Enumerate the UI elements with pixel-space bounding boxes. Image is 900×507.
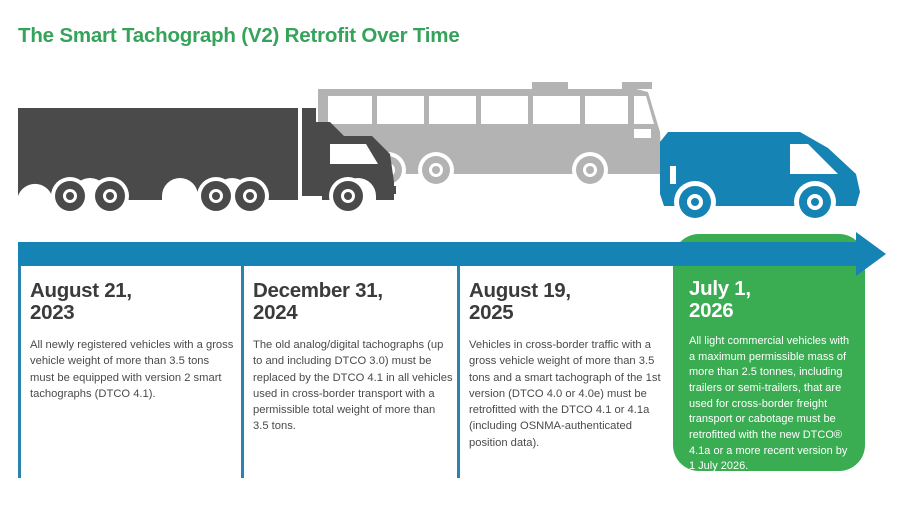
- bus-wheel-rear: [572, 152, 608, 188]
- milestone-date-2: December 31,2024: [253, 280, 453, 324]
- milestone-date-4-line1: July 1,: [689, 277, 751, 300]
- milestone-column-2: December 31,2024 The old analog/digital …: [253, 252, 453, 435]
- bus-wheel-mid: [418, 152, 454, 188]
- milestone-column-1: August 21,2023 All newly registered vehi…: [30, 252, 235, 402]
- page-title: The Smart Tachograph (V2) Retrofit Over …: [18, 24, 460, 48]
- milestone-date-2-line1: December 31,: [253, 279, 383, 302]
- milestone-date-3-line2: 2025: [469, 301, 513, 324]
- trailer-wheel-2: [91, 177, 129, 215]
- van-wheel-front: [794, 181, 836, 223]
- milestone-column-4: July 1,2026 All light commercial vehicle…: [689, 252, 855, 475]
- delivery-van-icon: [660, 132, 860, 223]
- milestone-description-4: All light commercial vehicles with a max…: [689, 334, 855, 474]
- trailer-wheel-3: [197, 177, 235, 215]
- milestone-description-2: The old analog/digital tachographs (up t…: [253, 337, 453, 434]
- tractor-wheel: [329, 177, 367, 215]
- van-wheel-rear: [674, 181, 716, 223]
- milestone-date-3: August 19,2025: [469, 280, 671, 324]
- milestone-columns: August 21,2023 All newly registered vehi…: [0, 252, 900, 492]
- milestone-description-3: Vehicles in cross-border traffic with a …: [469, 337, 671, 451]
- milestone-description-1: All newly registered vehicles with a gro…: [30, 337, 235, 402]
- milestone-column-3: August 19,2025 Vehicles in cross-border …: [469, 252, 671, 451]
- trailer-wheel-4: [231, 177, 269, 215]
- milestone-date-4: July 1,2026: [689, 278, 855, 322]
- milestone-date-3-line1: August 19,: [469, 279, 571, 302]
- vehicle-illustrations: [0, 70, 900, 238]
- milestone-date-1-line1: August 21,: [30, 279, 132, 302]
- trailer-wheel-1: [51, 177, 89, 215]
- infographic-root: The Smart Tachograph (V2) Retrofit Over …: [0, 0, 900, 507]
- milestone-date-1-line2: 2023: [30, 301, 74, 324]
- milestone-date-4-line2: 2026: [689, 299, 733, 322]
- milestone-date-2-line2: 2024: [253, 301, 297, 324]
- milestone-date-1: August 21,2023: [30, 280, 235, 324]
